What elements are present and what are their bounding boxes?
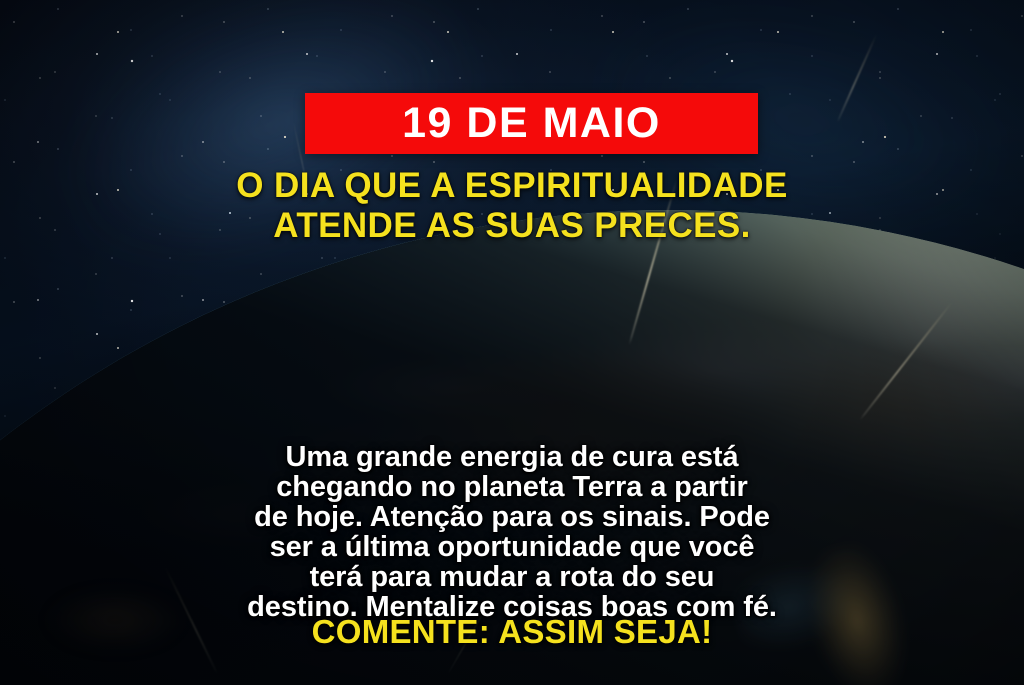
headline-line-2: ATENDE AS SUAS PRECES. — [0, 206, 1024, 246]
body-line-1: Uma grande energia de cura está — [0, 442, 1024, 472]
body-line-4: ser a última oportunidade que você — [0, 532, 1024, 562]
call-to-action-text: COMENTE: ASSIM SEJA! — [0, 613, 1024, 651]
body-line-5: terá para mudar a rota do seu — [0, 562, 1024, 592]
date-banner: 19 DE MAIO — [305, 93, 758, 154]
date-banner-label: 19 DE MAIO — [402, 102, 661, 145]
headline: O DIA QUE A ESPIRITUALIDADE ATENDE AS SU… — [0, 166, 1024, 246]
body-line-2: chegando no planeta Terra a partir — [0, 472, 1024, 502]
poster-content: 19 DE MAIO O DIA QUE A ESPIRITUALIDADE A… — [0, 0, 1024, 685]
body-line-3: de hoje. Atenção para os sinais. Pode — [0, 502, 1024, 532]
body-copy: Uma grande energia de cura está chegando… — [0, 442, 1024, 622]
poster-canvas: 19 DE MAIO O DIA QUE A ESPIRITUALIDADE A… — [0, 0, 1024, 685]
headline-line-1: O DIA QUE A ESPIRITUALIDADE — [0, 166, 1024, 206]
